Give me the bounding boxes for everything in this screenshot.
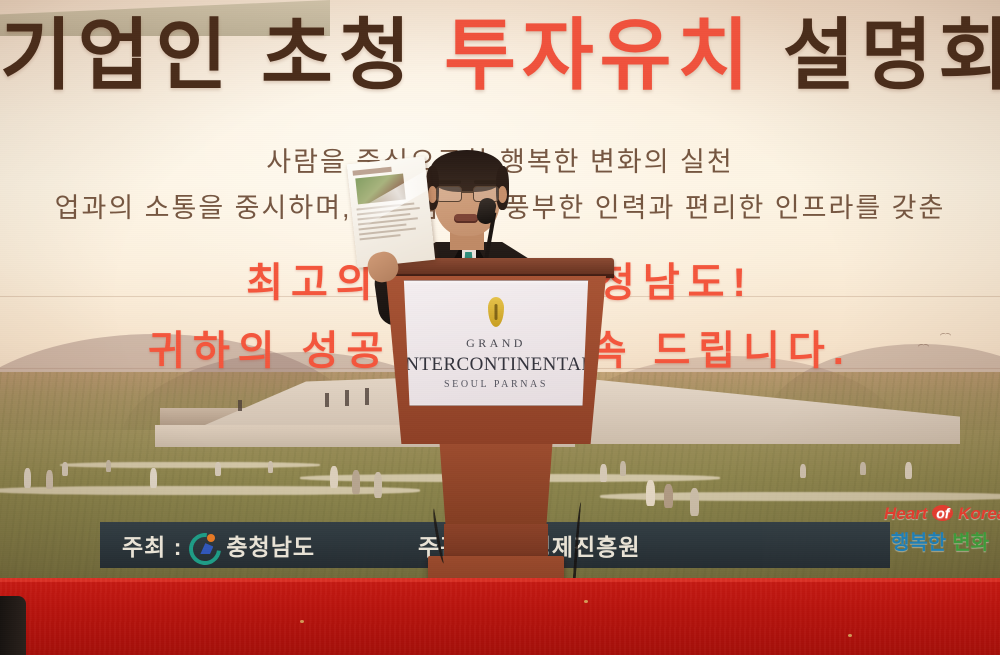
hok-suffix: Korea [958, 504, 1000, 523]
lawn-person [352, 470, 360, 494]
hok-prefix: Heart [884, 504, 927, 523]
lawn-person [106, 460, 111, 472]
glasses-bridge [461, 191, 473, 193]
lawn-person [268, 461, 273, 473]
title-part-2: 설명회 [755, 11, 1000, 99]
footpath [60, 462, 320, 468]
foreground-dark-object [0, 596, 26, 655]
lawn-person [215, 462, 221, 476]
lawn-person [330, 466, 338, 488]
lawn-person [690, 488, 699, 516]
ear-right [498, 186, 507, 203]
carpet-texture [0, 578, 1000, 655]
held-document [347, 156, 435, 268]
hotel-brand-plaque: GRAND INTERCONTINENTAL SEOUL PARNAS [402, 280, 590, 406]
title-part-1: 기업인 초청 [0, 11, 444, 99]
lawn-person [664, 484, 673, 508]
hok-korean-green: 변화 [952, 532, 989, 554]
building-window [238, 400, 242, 411]
lawn-person [150, 468, 157, 488]
photo-canvas: 기업인 초청 투자유치 설명회 사람을 중심으로한 행복한 변화의 실천 업과의… [0, 0, 1000, 655]
lens-left [436, 186, 462, 202]
hok-top-line: Heart of Korea [884, 504, 996, 524]
red-carpet [0, 578, 1000, 655]
lawn-person [24, 468, 31, 488]
hok-bottom-line: 행복한변화 [884, 526, 996, 555]
heart-of-korea-logo: Heart of Korea 행복한변화 [884, 504, 996, 566]
host-name: 충청남도 [226, 528, 315, 562]
title-highlight: 투자유치 [444, 11, 755, 99]
carpet-speck [584, 600, 588, 603]
lawn-person [800, 464, 806, 478]
building-window [325, 393, 329, 407]
mouth [454, 214, 478, 223]
lawn-person [905, 462, 912, 479]
lawn-person [925, 466, 932, 485]
hok-korean-blue: 행복한 [891, 532, 946, 554]
host-label: 주최 : [122, 528, 182, 562]
eyebrow-left [438, 180, 461, 184]
carpet-speck [848, 634, 852, 637]
building-window [365, 388, 369, 405]
lawn-person [646, 480, 655, 506]
banner-title: 기업인 초청 투자유치 설명회 [0, 16, 1000, 94]
plaque-line-seoul-parnas: SEOUL PARNAS [444, 379, 548, 390]
lawn-person [62, 462, 68, 476]
eyebrow-right [474, 180, 497, 184]
plaque-line-grand: GRAND [466, 336, 526, 351]
lawn-person [860, 462, 866, 475]
chungnam-emblem-icon [189, 532, 219, 558]
document-text-line [360, 234, 401, 240]
plaque-line-intercontinental: INTERCONTINENTAL [399, 354, 594, 376]
carpet-speck [300, 620, 304, 623]
lectern-shaft [436, 444, 556, 526]
host-group: 주최 : 충청남도 [122, 528, 315, 562]
intercontinental-leaf-icon [488, 297, 504, 327]
hok-of-badge: of [932, 505, 953, 521]
building-window [345, 390, 349, 406]
footpath [600, 492, 1000, 501]
lectern-neck [444, 524, 548, 558]
lawn-person [620, 461, 626, 476]
lawn-person [46, 470, 53, 489]
